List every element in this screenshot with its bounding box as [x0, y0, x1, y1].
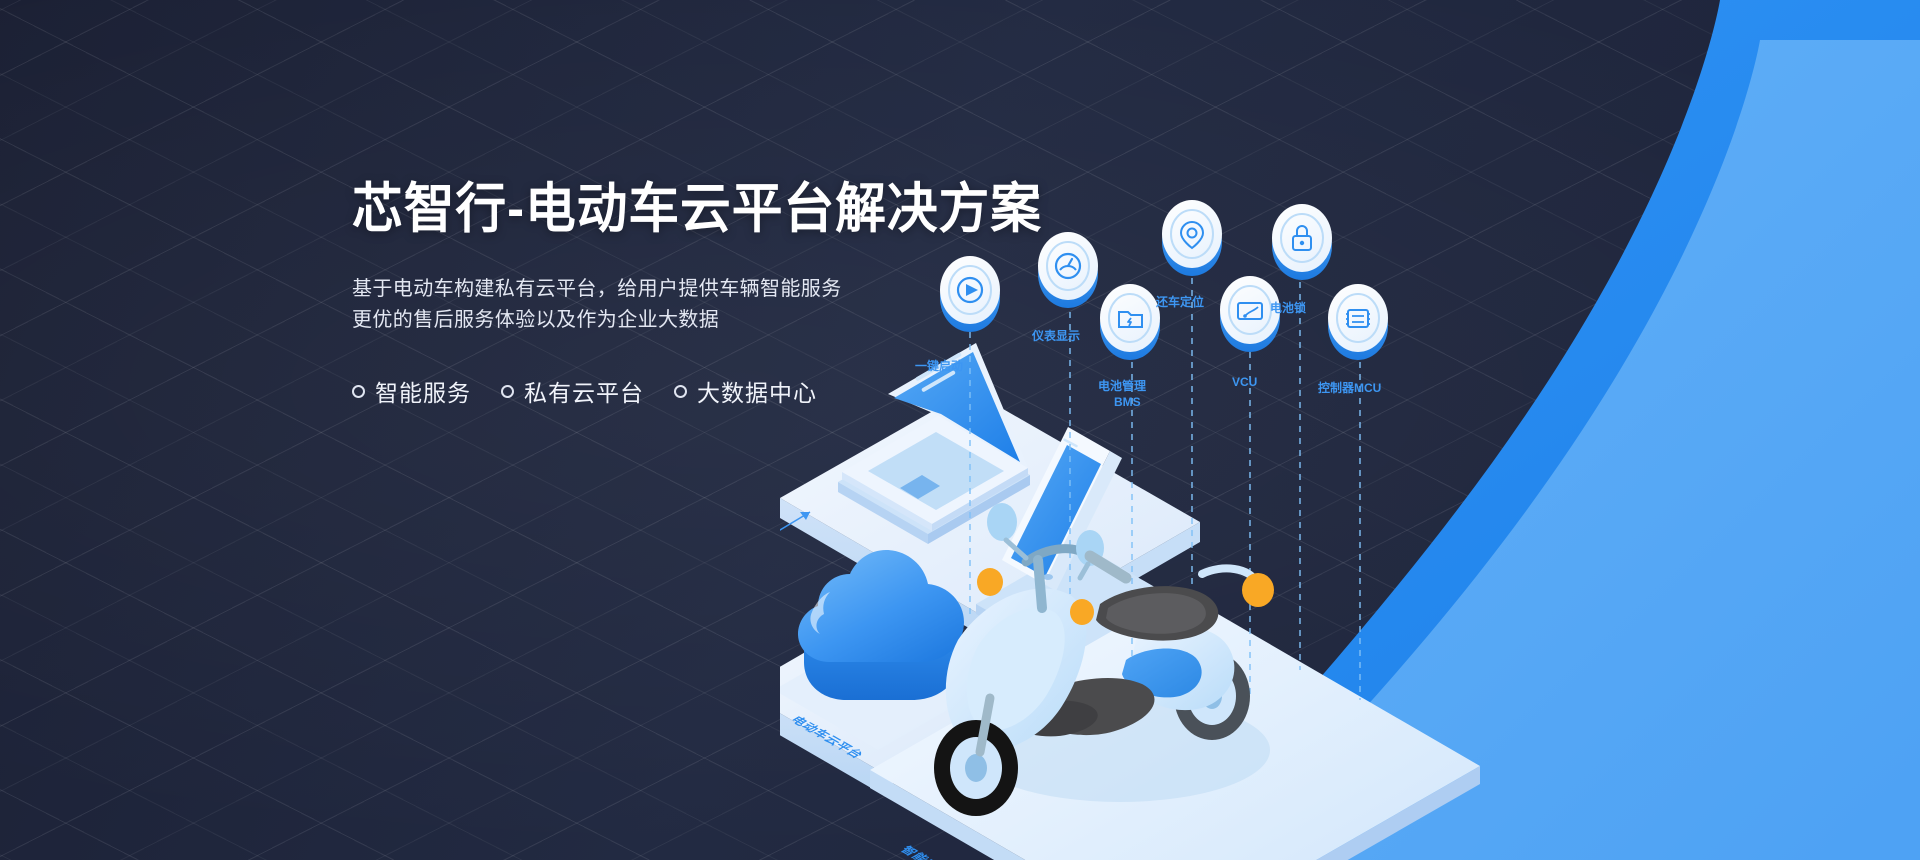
- node-label-secondary: BMS: [1114, 395, 1141, 409]
- feature-node-battery-management[interactable]: 电池管理 BMS: [1098, 284, 1160, 409]
- circle-bullet-icon: [501, 385, 514, 398]
- feature-node-controller-mcu[interactable]: 控制器MCU: [1318, 284, 1388, 395]
- node-label: 电池管理: [1098, 378, 1146, 393]
- turn-signal-right: [1070, 599, 1094, 625]
- feature-item-smart-service[interactable]: 智能服务: [352, 374, 471, 408]
- node-label: 一键启动: [915, 358, 963, 373]
- feature-node-dashboard-display[interactable]: 仪表显示: [1031, 232, 1098, 343]
- tail-light: [1242, 573, 1274, 607]
- node-label: 仪表显示: [1031, 328, 1080, 343]
- banner-stage: 芯智行-电动车云平台解决方案 基于电动车构建私有云平台，给用户提供车辆智能服务 …: [0, 0, 1920, 860]
- vehicle-platform-label: 智能电动车: [897, 843, 967, 860]
- isometric-illustration: 终端设备 电动车云平台: [780, 200, 1920, 860]
- front-wheel: [934, 720, 1018, 816]
- node-label: 控制器MCU: [1318, 380, 1381, 395]
- mirror-left: [987, 503, 1017, 541]
- illustration-canvas: 终端设备 电动车云平台: [780, 200, 1920, 860]
- turn-signal-left: [977, 568, 1003, 596]
- circle-bullet-icon: [674, 385, 687, 398]
- node-label: VCU: [1232, 375, 1257, 389]
- feature-label: 智能服务: [375, 374, 471, 408]
- feature-label: 私有云平台: [524, 374, 644, 408]
- feature-node-return-location[interactable]: 还车定位: [1155, 200, 1222, 309]
- node-label: 还车定位: [1155, 294, 1204, 309]
- circle-bullet-icon: [352, 385, 365, 398]
- node-label: 电池锁: [1270, 300, 1306, 315]
- feature-item-private-cloud[interactable]: 私有云平台: [501, 374, 644, 408]
- steering-column: [1038, 560, 1042, 608]
- feature-node-vcu[interactable]: VCU: [1220, 276, 1280, 389]
- feature-node-battery-lock[interactable]: 电池锁: [1270, 204, 1332, 315]
